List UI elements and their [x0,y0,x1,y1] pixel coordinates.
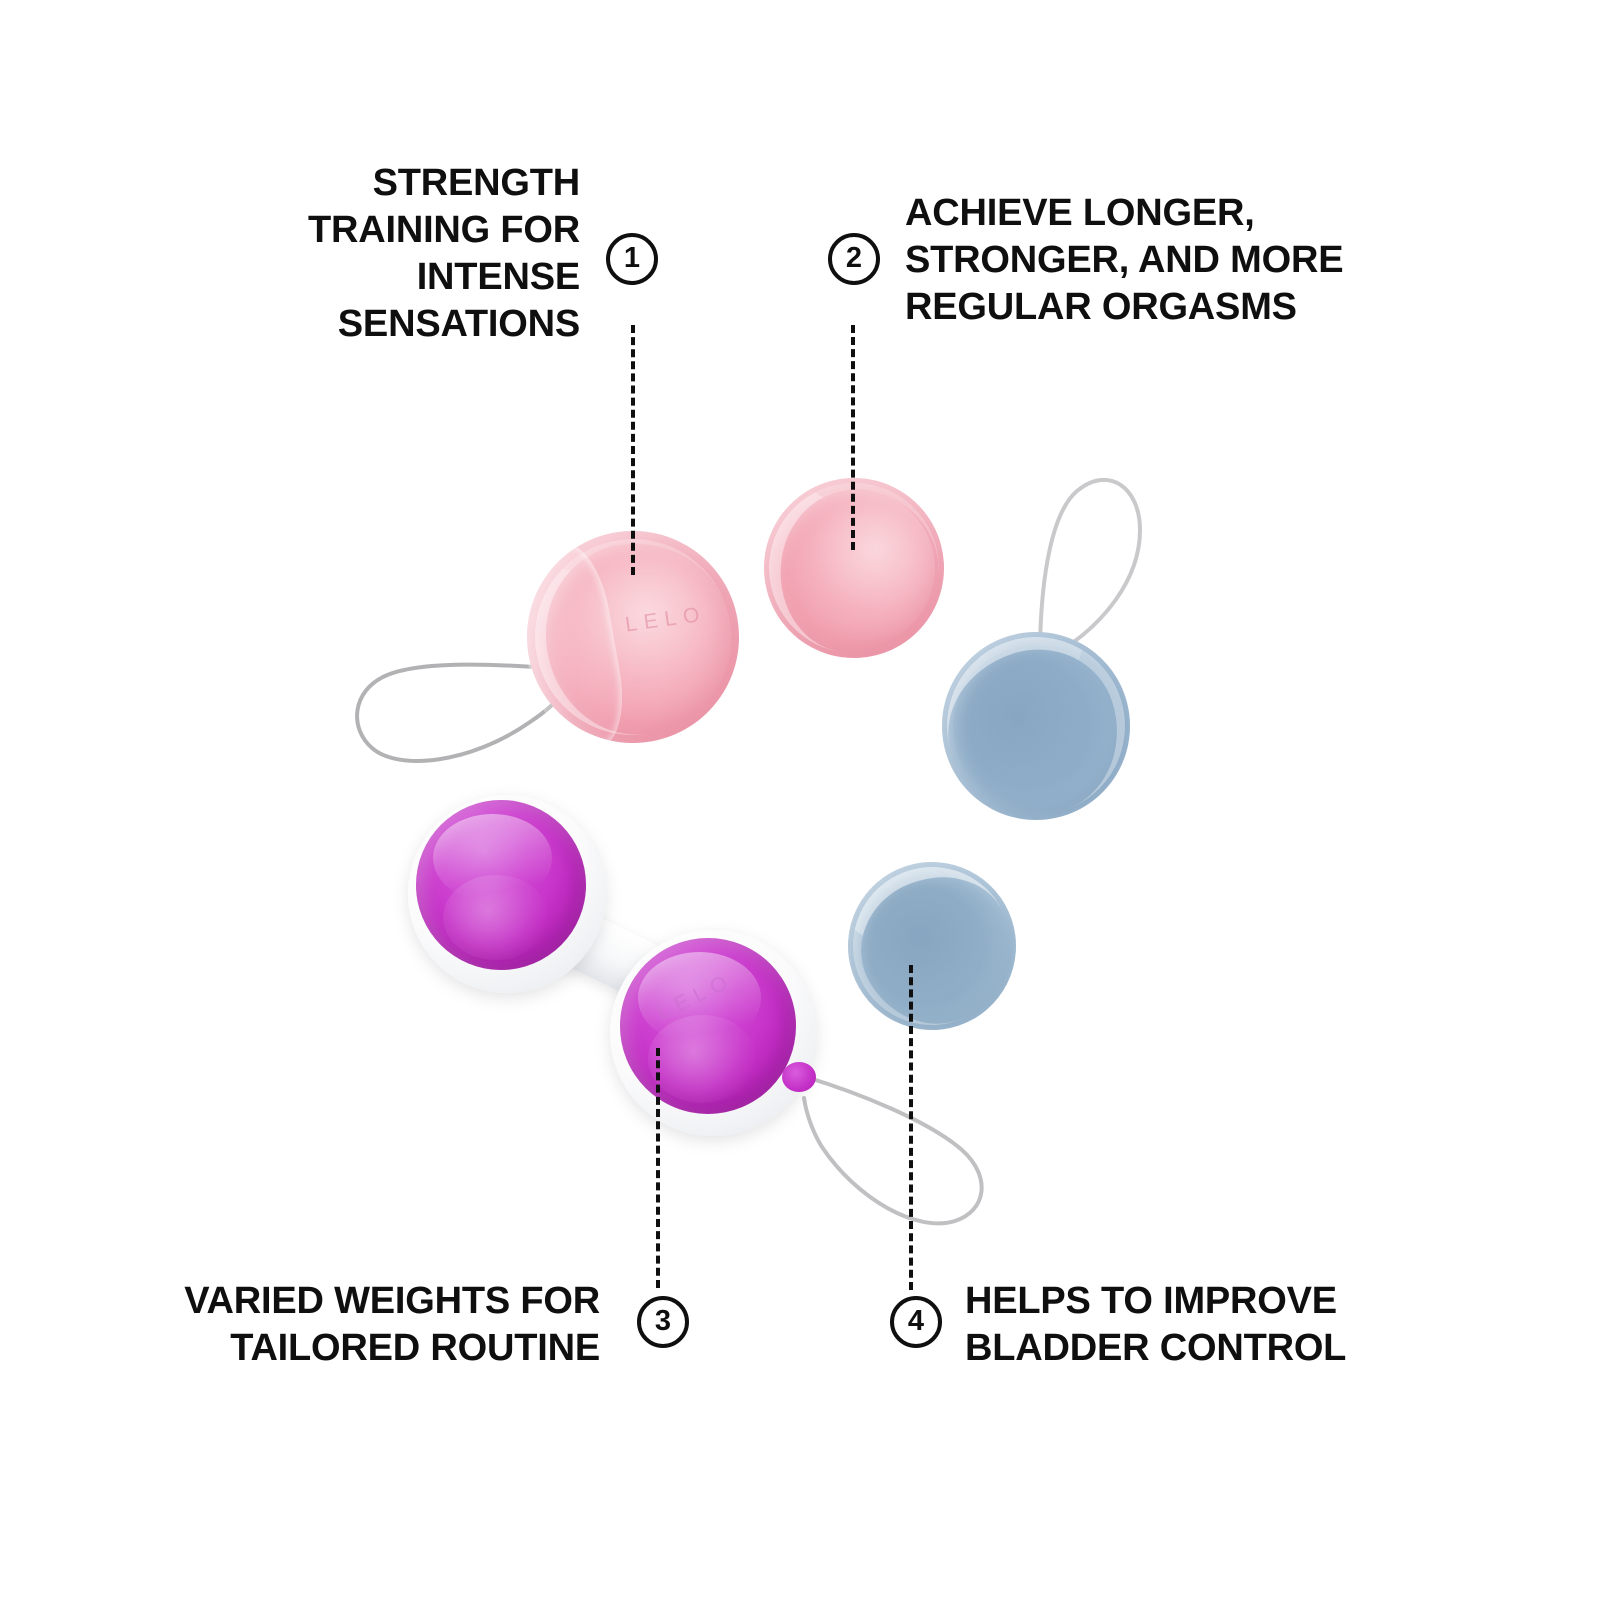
blue-ball-upper [933,623,1140,830]
purple-ball-upper [416,800,586,970]
callout-text-2: ACHIEVE LONGER, STRONGER, AND MORE REGUL… [905,190,1395,331]
purple-shell-upper [408,795,606,993]
blue-ball-lower [842,856,1021,1035]
callout-text-3: VARIED WEIGHTS FOR TAILORED ROUTINE [120,1278,600,1372]
callout-badge-3: 3 [637,1296,689,1348]
lelo-brand-mark-purple: LELO [654,968,738,1025]
cord-pink-large [357,665,564,761]
leader-line-4 [909,965,913,1290]
purple-shell-lower [610,930,816,1136]
cord-blue-upper [1040,480,1140,648]
lelo-brand-mark: LELO [624,602,708,637]
blue-ball-upper-seam [924,614,1148,838]
leader-line-1 [631,325,635,575]
callout-text-1: STRENGTH TRAINING FOR INTENSE SENSATIONS [190,160,580,348]
callout-badge-1: 1 [606,233,658,285]
leader-line-2 [851,325,855,550]
infographic-stage: LELO LELO 1 2 3 4 STRENGTH TRAINING FOR … [0,0,1600,1600]
cord-purple-unit [804,1077,982,1223]
callout-badge-2: 2 [828,233,880,285]
callout-badge-2-number: 2 [846,244,862,273]
callout-text-4: HELPS TO IMPROVE BLADDER CONTROL [965,1278,1385,1372]
purple-cord-anchor [782,1062,816,1092]
callout-badge-1-number: 1 [624,244,640,273]
callout-badge-4-number: 4 [908,1307,924,1336]
callout-badge-3-number: 3 [655,1307,671,1336]
purple-ball-lower [620,938,796,1114]
leader-line-3 [656,1048,660,1288]
purple-connector-bar [535,898,695,1016]
callout-badge-4: 4 [890,1296,942,1348]
blue-ball-lower-seam [826,840,1037,1051]
